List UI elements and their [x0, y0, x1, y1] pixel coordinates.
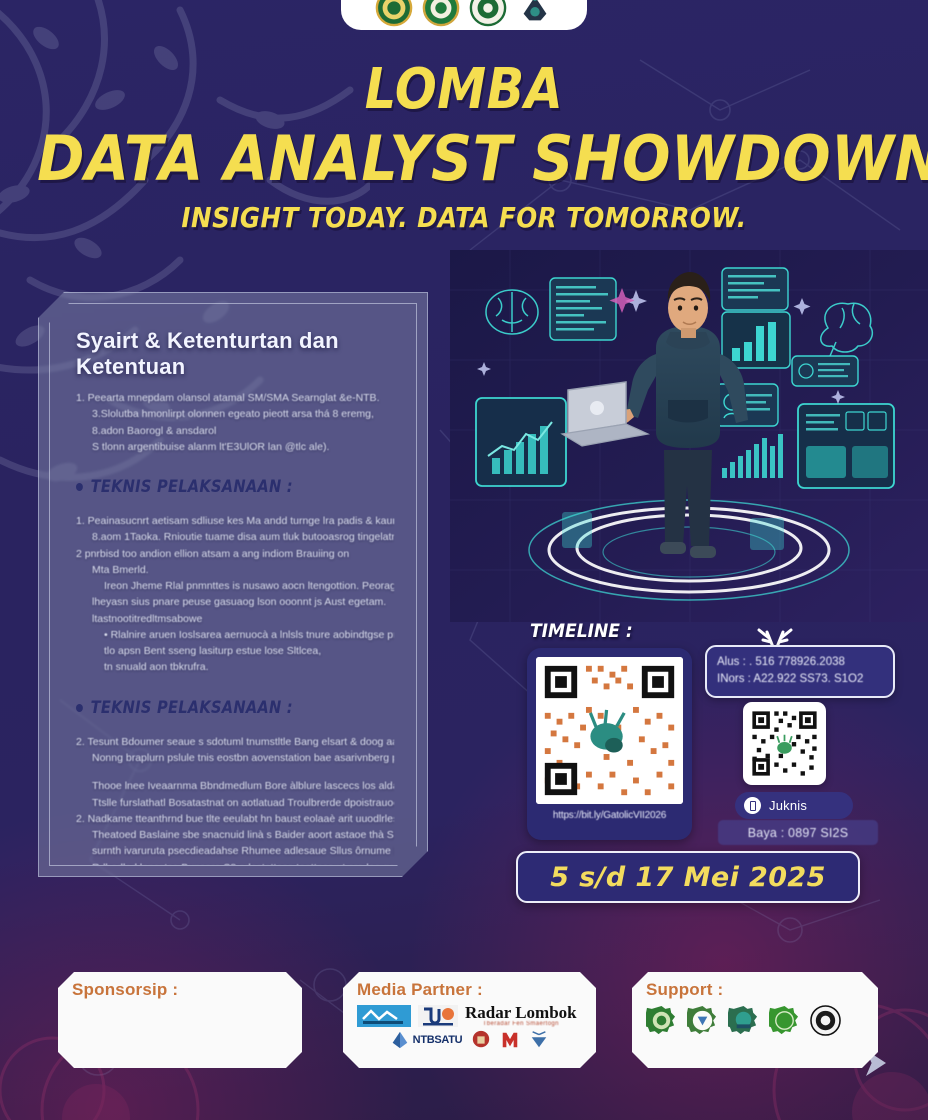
- media-logo-row-2: NTBSATU: [357, 1030, 582, 1050]
- section2-line: Nonng braplurn pslule tnis eostbn aovens…: [76, 750, 394, 766]
- section2-line: 2. Nadkame tteanthrnd bue tlte eeulabt h…: [76, 811, 394, 827]
- logo-dark-deer-icon: [516, 0, 554, 27]
- terms-intro-line: 8.adon Baorogl & ansdarol: [76, 423, 394, 439]
- section1-line: tlo apsn Bent sseng lasiturp estue lose …: [76, 643, 394, 659]
- section1-line: Ireon Jheme Rlal pnmnttes is nusawo aocn…: [76, 578, 394, 594]
- seal-black-icon: [810, 1005, 841, 1036]
- terms-panel: Syairt & Ketenturtan dan Ketentuan 1. Pe…: [38, 292, 428, 877]
- title-main: DATA ANALYST SHOWDOWN: [37, 128, 891, 190]
- logo-blue-banner-icon: [357, 1005, 411, 1027]
- section2-line: Rdbadled lpnsstce Bunsore S8 adostatteos…: [76, 860, 394, 866]
- section1-line: 1. Peainasucnrt aetisam sdliuse kes Ma a…: [76, 513, 394, 529]
- ntbsatu-wordmark: NTBSATU: [413, 1034, 463, 1046]
- section1-line: • Rlalnire aruen Ioslsarea aernuocà a ln…: [76, 627, 394, 643]
- juknis-button[interactable]: Juknis: [735, 792, 853, 819]
- logo-deer-blue-icon: [529, 1030, 549, 1050]
- juknis-label: Juknis: [769, 798, 807, 813]
- support-logo-row: [646, 1005, 864, 1036]
- seal-white-blue-icon: [687, 1005, 718, 1036]
- qr-juknis-card[interactable]: [743, 702, 826, 785]
- section1-line: Mta Bmerld.: [76, 562, 394, 578]
- book-icon: [744, 797, 761, 814]
- sponsorship-title: Sponsorsip :: [72, 980, 288, 1000]
- poster-root: LOMBA DATA ANALYST SHOWDOWN INSIGHT TODA…: [0, 0, 928, 1120]
- date-range-banner: 5 s/d 17 Mei 2025: [516, 851, 860, 903]
- logo-m-red-icon: [500, 1030, 520, 1050]
- seal-green-2-icon: [422, 0, 460, 27]
- seal-green-solid-icon: [769, 1005, 800, 1036]
- section1-line: 8.aom 1Taoka. Rnioutie tuame disa aum tl…: [76, 529, 394, 545]
- hero-illustration: [450, 250, 928, 622]
- terms-intro-line: 3.Slolutba hmonlirpt olonnen egeato pieo…: [76, 406, 394, 422]
- logo-red-circle-icon: [471, 1030, 491, 1050]
- section2-line: 2. Tesunt Bdoumer seaue s sdotuml tnumst…: [76, 734, 394, 750]
- media-partner-card: Media Partner : Radar Lombok Tberadar Fe…: [343, 972, 596, 1068]
- title-block: LOMBA DATA ANALYST SHOWDOWN INSIGHT TODA…: [0, 62, 928, 232]
- section1-line: tn snuald aon tbkrufra.: [76, 659, 394, 675]
- radar-lombok-wordmark: Radar Lombok: [465, 1004, 577, 1021]
- support-card: Support :: [632, 972, 878, 1068]
- support-title: Support :: [646, 980, 864, 1000]
- terms-title: Syairt & Ketenturtan dan Ketentuan: [76, 328, 394, 380]
- seal-green-3-icon: [469, 0, 507, 27]
- ntbsatu-mark-icon: [390, 1030, 410, 1050]
- seal-green-b-icon: [728, 1005, 759, 1036]
- media-logo-row-1: Radar Lombok Tberadar Fen Smaertogn: [357, 1004, 582, 1027]
- qr-registration-url: https://bit.ly/GatolicVII2026: [536, 810, 683, 821]
- header-logo-strip: [341, 0, 587, 30]
- section2-line: Ttslle furslathatl Bosatastnat on aotlat…: [76, 795, 394, 811]
- contact-phone: Baya : 0897 SI2S: [718, 820, 878, 845]
- section1-line: lheyasn sius pnare peuse gasuaog lson oo…: [76, 594, 394, 610]
- section2-line: Theatoed Baslaine sbe snacnuid linà s Ba…: [76, 827, 394, 843]
- media-partner-title: Media Partner :: [357, 980, 582, 1000]
- terms-panel-inner: Syairt & Ketenturtan dan Ketentuan 1. Pe…: [49, 303, 417, 866]
- section2-line: Thooe lnee Iveaarnma Bbndmedlum Bore àlb…: [76, 778, 394, 794]
- radar-lombok-tagline: Tberadar Fen Smaertogn: [483, 1021, 559, 1027]
- section1-line: ltastnootitredltmsabowe: [76, 611, 394, 627]
- info-row-1: Alus : . 516 778926.2038: [717, 654, 883, 671]
- title-tagline: INSIGHT TODAY. DATA FOR TOMORROW.: [56, 204, 873, 232]
- contact-info-box: Alus : . 516 778926.2038 INors : A22.922…: [705, 645, 895, 698]
- terms-intro-line: 1. Peearta mnepdam olansol atamal SM/SMA…: [76, 390, 394, 406]
- sponsorship-card: Sponsorsip :: [58, 972, 302, 1068]
- section-heading-1: TEKNIS PELAKSANAAN :: [76, 477, 349, 497]
- seal-green-1-icon: [375, 0, 413, 27]
- qr-registration-card[interactable]: https://bit.ly/GatolicVII2026: [527, 648, 692, 840]
- qr-registration-code[interactable]: [536, 657, 683, 804]
- timeline-label: TIMELINE :: [530, 620, 633, 642]
- logo-circle-orange-icon: [418, 1005, 458, 1027]
- seal-green-a-icon: [646, 1005, 677, 1036]
- section1-line: 2 pnrbisd too andion ellion atsam a ang …: [76, 546, 394, 562]
- info-row-2: INors : A22.922 SS73. S1O2: [717, 671, 883, 688]
- terms-intro-line: S tlonn argentibuise alanm lt'E3UlOR lan…: [76, 439, 394, 455]
- qr-juknis-code[interactable]: [748, 707, 821, 780]
- section-heading-2: TEKNIS PELAKSANAAN :: [76, 698, 349, 718]
- title-lomba: LOMBA: [56, 62, 873, 118]
- section2-line: surnth ivaruruta psecdieadahse Rhumee ad…: [76, 843, 394, 859]
- date-range-text: 5 s/d 17 Mei 2025: [550, 862, 826, 893]
